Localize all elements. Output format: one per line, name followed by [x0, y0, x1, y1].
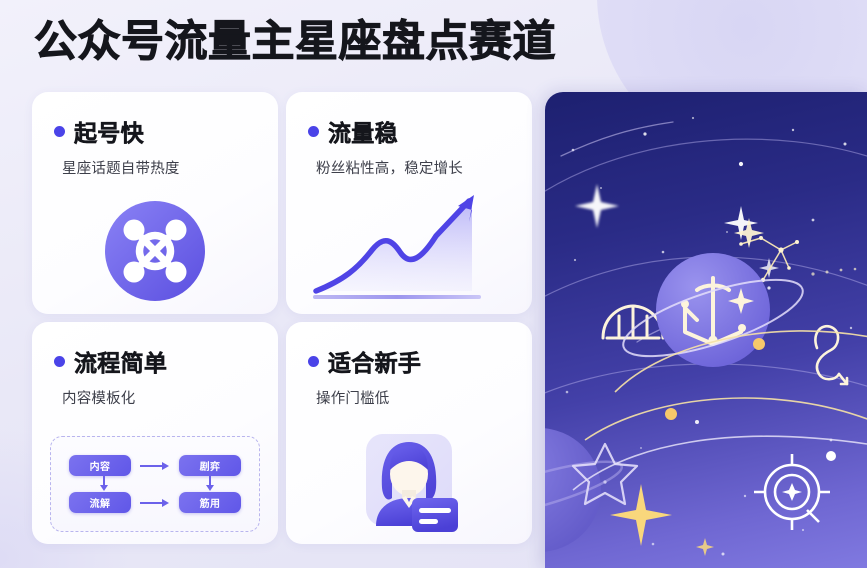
network-node-icon [102, 198, 208, 304]
flow-node-1: 内容 [69, 455, 131, 476]
zodiac-space-illustration [545, 92, 867, 568]
card-subtitle: 内容模板化 [32, 378, 278, 408]
bullet-dot-icon [308, 126, 319, 137]
feature-card-beginner-friendly[interactable]: 适合新手 操作门槛低 [286, 322, 532, 544]
card-subtitle: 操作门槛低 [286, 378, 532, 408]
bullet-dot-icon [54, 356, 65, 367]
feature-card-simple-process[interactable]: 流程简单 内容模板化 内容 剧弈 流解 筋用 [32, 322, 278, 544]
feature-card-stable-traffic[interactable]: 流量稳 粉丝粘性高，稳定增长 [286, 92, 532, 314]
card-title: 起号快 [74, 114, 144, 148]
card-header: 适合新手 [286, 322, 532, 378]
card-artwork: 内容 剧弈 流解 筋用 [32, 418, 278, 544]
space-scene [545, 92, 867, 568]
card-subtitle: 星座话题自带热度 [32, 148, 278, 178]
card-title: 适合新手 [328, 344, 421, 378]
flow-diagram-icon: 内容 剧弈 流解 筋用 [50, 436, 260, 532]
flow-node-4: 筋用 [179, 492, 241, 513]
flow-node-3: 流解 [69, 492, 131, 513]
feature-card-quick-start[interactable]: 起号快 星座话题自带热度 [32, 92, 278, 314]
card-title: 流量稳 [328, 114, 398, 148]
flow-arrow-right-icon [138, 497, 172, 509]
growth-arrow-chart-icon [286, 188, 532, 314]
card-artwork [286, 188, 532, 314]
card-header: 起号快 [32, 92, 278, 148]
flow-arrow-down-icon [99, 474, 109, 491]
poster-canvas: 公众号流量主星座盘点赛道 起号快 星座话题自带热度 [0, 0, 867, 568]
flow-node-2: 剧弈 [179, 455, 241, 476]
page-title: 公众号流量主星座盘点赛道 [34, 16, 556, 70]
bullet-dot-icon [308, 356, 319, 367]
card-title: 流程简单 [74, 344, 167, 378]
card-artwork [286, 418, 532, 544]
person-avatar-icon [350, 426, 468, 544]
flow-arrow-right-icon [138, 460, 172, 472]
bullet-dot-icon [54, 126, 65, 137]
card-header: 流程简单 [32, 322, 278, 378]
card-subtitle: 粉丝粘性高，稳定增长 [286, 148, 532, 178]
flow-arrow-down-icon [205, 474, 215, 491]
feature-card-grid: 起号快 星座话题自带热度 [32, 92, 532, 550]
card-artwork [32, 188, 278, 314]
card-header: 流量稳 [286, 92, 532, 148]
